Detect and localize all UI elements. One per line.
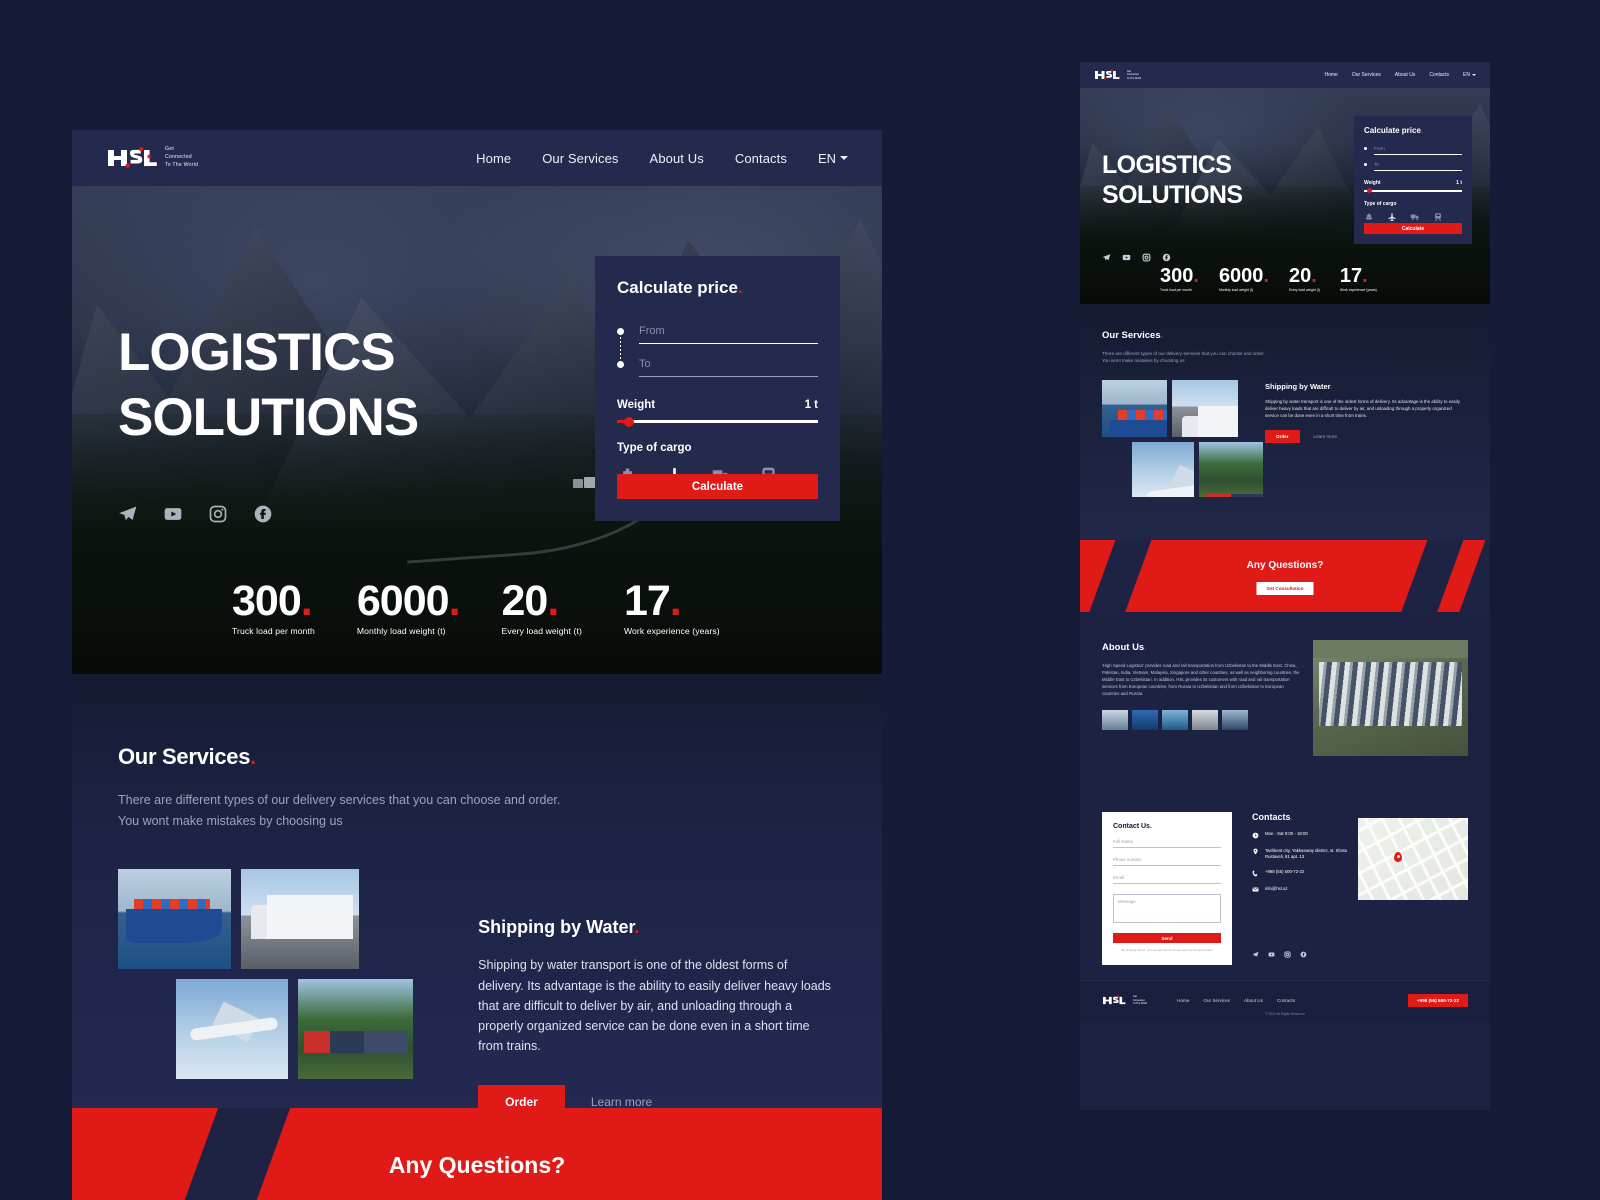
stat-item: 6000. Monthly load weight (t) — [357, 581, 460, 636]
site-header: Get Connected To The World Home Our Serv… — [72, 130, 882, 186]
brand-logo[interactable]: Get Connected To The World — [106, 146, 198, 170]
service-detail-title: Shipping by Water. — [478, 917, 836, 938]
stat-value: 17 — [624, 581, 670, 622]
facebook-icon[interactable] — [1162, 253, 1171, 262]
slider-knob[interactable] — [624, 417, 634, 427]
hsl-truck-photo[interactable] — [1172, 380, 1238, 437]
copyright-text: © 2022 All Rights Reserved — [1080, 1012, 1490, 1016]
stat-value: 6000 — [1219, 267, 1264, 286]
stat-item: 300. Truck load per month — [232, 581, 315, 636]
nav-item-our-services[interactable]: Our Services — [542, 151, 618, 166]
to-underline — [1374, 170, 1462, 171]
cargo-type-options — [1364, 212, 1462, 222]
services-subtitle: There are different types of our deliver… — [1102, 350, 1468, 365]
mini-main-nav: Home Our Services About Us Contacts EN — [1324, 72, 1476, 78]
services-title: Our Services. — [1102, 330, 1468, 341]
hero-social-links — [118, 504, 273, 524]
nav-item-contacts[interactable]: Contacts — [1429, 72, 1449, 78]
route-dot-icon — [1364, 147, 1367, 150]
contact-form-title: Contact Us. — [1113, 823, 1221, 830]
route-dot-icon — [617, 361, 624, 368]
cargo-ship-photo[interactable] — [118, 869, 231, 969]
calculate-button[interactable]: Calculate — [1364, 223, 1462, 234]
contacts-email[interactable]: info@hsl.uz — [1265, 886, 1288, 892]
from-field-row: From — [1364, 146, 1462, 155]
price-calculator-card: Calculate price. From To Weight 1 t — [595, 256, 840, 521]
location-pin-icon — [1252, 848, 1259, 855]
cta-band: Any Questions? — [72, 1108, 882, 1200]
stat-value: 6000 — [357, 581, 449, 622]
services-section: Our Services. There are different types … — [72, 674, 882, 1119]
cargo-ship-photo[interactable] — [1102, 380, 1167, 437]
hsl-logo-icon — [1094, 69, 1120, 81]
mini-hero-section: LOGISTICS SOLUTIONS 300. Truck load per … — [1080, 88, 1490, 304]
language-switcher[interactable]: EN — [818, 151, 848, 166]
main-nav: Home Our Services About Us Contacts EN — [476, 151, 848, 166]
nav-item-about-us[interactable]: About Us — [1395, 72, 1416, 78]
stat-item: 300. Truck load per month — [1160, 267, 1199, 292]
route-dot-icon — [1364, 163, 1367, 166]
email-field[interactable]: Email — [1113, 875, 1221, 884]
port-photo[interactable] — [1162, 710, 1188, 730]
mini-price-calculator-card: Calculate price. From To Weight 1 t Type… — [1354, 116, 1472, 244]
facebook-icon[interactable] — [1300, 951, 1307, 958]
learn-more-link[interactable]: Learn more — [591, 1095, 652, 1109]
stats-row: 300. Truck load per month 6000. Monthly … — [232, 581, 720, 636]
to-input[interactable]: To — [1374, 162, 1462, 170]
nav-item-our-services[interactable]: Our Services — [1352, 72, 1381, 78]
hsl-truck-photo[interactable] — [241, 869, 359, 969]
to-field-row: To — [617, 358, 818, 377]
stat-label: Monthly load weight (t) — [1219, 288, 1269, 292]
language-label: EN — [818, 151, 836, 166]
stat-label: Every load weight (t) — [502, 626, 582, 636]
footer-nav: Home Our Services About Us Contacts — [1177, 998, 1295, 1003]
calculator-title: Calculate price. — [617, 278, 818, 298]
get-consultation-button[interactable]: Get Consultation — [1256, 582, 1313, 595]
map-pin-icon — [1394, 852, 1402, 862]
service-detail-description: Shipping by water transport is one of th… — [1265, 398, 1461, 419]
telegram-icon[interactable] — [1252, 951, 1259, 958]
services-title: Our Services. — [118, 744, 836, 770]
instagram-icon[interactable] — [1284, 951, 1291, 958]
stat-value: 20 — [1289, 267, 1311, 286]
service-detail-title: Shipping by Water. — [1265, 382, 1461, 391]
service-detail-description: Shipping by water transport is one of th… — [478, 955, 836, 1056]
mini-hero-social-links — [1102, 253, 1171, 262]
warehouse-photo[interactable] — [1102, 710, 1128, 730]
weight-slider[interactable] — [1364, 190, 1462, 192]
contacts-block: Contacts. Mon - Sat 9:00 - 18:00 Tashken… — [1252, 812, 1362, 893]
hero-title-line2: SOLUTIONS — [118, 386, 418, 451]
footer-brand-tagline: Get Connected To The World — [1133, 995, 1147, 1005]
to-input[interactable]: To — [639, 358, 818, 376]
terminal-photo[interactable] — [1192, 710, 1218, 730]
footer-nav-contacts[interactable]: Contacts — [1277, 998, 1295, 1003]
telegram-icon[interactable] — [118, 504, 138, 524]
route-fields: From To — [617, 325, 818, 377]
stat-item: 17. Work experience (years) — [624, 581, 720, 636]
brand-tagline: Get Connected To The World — [165, 146, 198, 169]
stat-item: 17. Work experience (years) — [1340, 267, 1377, 292]
contacts-phone-row: +998 (55) 500-72-22 — [1252, 869, 1362, 877]
telegram-icon[interactable] — [1102, 253, 1111, 262]
language-switcher[interactable]: EN — [1463, 72, 1476, 78]
weight-value: 1 t — [805, 399, 818, 411]
hsl-logo-icon — [1102, 995, 1126, 1006]
mini-cta-band: Any Questions? Get Consultation — [1080, 540, 1490, 612]
truck-icon[interactable] — [1410, 212, 1420, 222]
cargo-type-label: Type of cargo — [1364, 201, 1462, 207]
footer-nav-home[interactable]: Home — [1177, 998, 1189, 1003]
message-field[interactable]: Message — [1113, 894, 1221, 923]
facebook-icon[interactable] — [253, 504, 273, 524]
terms-text: By clicking 'Send', you accept Terms of … — [1113, 948, 1221, 952]
footer-phone-button[interactable]: +998 (55) 500-72-22 — [1408, 994, 1468, 1007]
clock-icon — [1252, 832, 1259, 839]
site-footer: Get Connected To The World Home Our Serv… — [1080, 980, 1490, 1020]
services-gallery — [1102, 380, 1232, 485]
full-page-mockup-thumbnail: Get Connected To The World Home Our Serv… — [1080, 62, 1490, 1110]
about-section: About Us. 'High Speed Logistics' provide… — [1080, 612, 1490, 796]
weight-slider[interactable] — [617, 420, 818, 423]
stat-label: Truck load per month — [1160, 288, 1199, 292]
to-underline — [639, 376, 818, 377]
cta-title: Any Questions? — [1080, 560, 1490, 571]
stat-item: 6000. Monthly load weight (t) — [1219, 267, 1269, 292]
mini-page-title: LOGISTICS SOLUTIONS — [1102, 150, 1242, 210]
contacts-phone[interactable]: +998 (55) 500-72-22 — [1265, 869, 1304, 875]
instagram-icon[interactable] — [208, 504, 228, 524]
ship-icon[interactable] — [1364, 212, 1374, 222]
youtube-icon[interactable] — [1122, 253, 1131, 262]
calculate-button[interactable]: Calculate — [617, 474, 818, 499]
stat-value: 300 — [1160, 267, 1193, 286]
contacts-social-links — [1252, 951, 1307, 958]
youtube-icon[interactable] — [163, 504, 183, 524]
hero-title-line1: LOGISTICS — [1102, 150, 1242, 180]
contacts-title: Contacts. — [1252, 812, 1362, 822]
full-name-field[interactable]: Full Name — [1113, 839, 1221, 848]
contacts-hours-row: Mon - Sat 9:00 - 18:00 — [1252, 831, 1362, 839]
contacts-address-row: Tashkent city, Yakkasaray district, st. … — [1252, 848, 1362, 861]
contact-form: Contact Us. Full Name Phone number Email… — [1102, 812, 1232, 965]
from-input[interactable]: From — [639, 325, 818, 343]
learn-more-link[interactable]: Learn more — [1314, 434, 1338, 439]
youtube-icon[interactable] — [1268, 951, 1275, 958]
aerial-logistics-yard-photo — [1313, 640, 1468, 756]
stat-item: 20. Every load weight (t) — [1289, 267, 1320, 292]
contact-section: Contact Us. Full Name Phone number Email… — [1080, 796, 1490, 980]
services-subtitle: There are different types of our deliver… — [118, 790, 836, 831]
cargo-plane-photo[interactable] — [176, 979, 288, 1079]
mini-brand-logo[interactable]: Get Connected To The World — [1094, 69, 1141, 81]
stat-value: 17 — [1340, 267, 1362, 286]
stat-item: 20. Every load weight (t) — [502, 581, 582, 636]
desktop-mockup-main: Get Connected To The World Home Our Serv… — [72, 130, 882, 1200]
weight-label: Weight — [617, 399, 655, 411]
train-icon[interactable] — [1433, 212, 1443, 222]
contacts-address: Tashkent city, Yakkasaray district, st. … — [1265, 848, 1362, 861]
nav-item-home[interactable]: Home — [476, 151, 511, 166]
nav-item-about-us[interactable]: About Us — [650, 151, 704, 166]
hsl-logo-icon — [106, 146, 158, 170]
footer-nav-our-services[interactable]: Our Services — [1203, 998, 1230, 1003]
location-map[interactable] — [1358, 818, 1468, 900]
from-underline — [639, 343, 818, 344]
order-button[interactable]: Order — [1265, 430, 1300, 443]
container-photo[interactable] — [1132, 710, 1158, 730]
footer-nav-about-us[interactable]: About Us — [1244, 998, 1263, 1003]
instagram-icon[interactable] — [1142, 253, 1151, 262]
phone-icon — [1252, 870, 1259, 877]
slider-knob[interactable] — [1367, 188, 1372, 193]
nav-item-home[interactable]: Home — [1324, 72, 1337, 78]
mini-brand-tagline: Get Connected To The World — [1127, 70, 1141, 80]
mini-stats-row: 300. Truck load per month 6000. Monthly … — [1160, 267, 1377, 292]
chevron-down-icon — [840, 156, 848, 160]
weight-row: Weight 1 t — [617, 399, 818, 411]
chevron-down-icon — [1472, 74, 1476, 76]
plane-icon[interactable] — [1387, 212, 1397, 222]
stat-label: Work experience (years) — [1340, 288, 1377, 292]
contacts-hours: Mon - Sat 9:00 - 18:00 — [1265, 831, 1308, 837]
service-detail: Shipping by Water. Shipping by water tra… — [1265, 382, 1461, 443]
service-detail: Shipping by Water. Shipping by water tra… — [478, 869, 836, 1119]
hero-title-line2: SOLUTIONS — [1102, 180, 1242, 210]
cargo-type-label: Type of cargo — [617, 442, 818, 454]
mail-icon — [1252, 886, 1259, 893]
hero-title-line1: LOGISTICS — [118, 321, 418, 386]
about-description: 'High Speed Logistics' provides road and… — [1102, 663, 1302, 698]
nav-item-contacts[interactable]: Contacts — [735, 151, 787, 166]
page-title: LOGISTICS SOLUTIONS — [118, 321, 418, 450]
phone-number-field[interactable]: Phone number — [1113, 857, 1221, 866]
to-field-row: To — [1364, 162, 1462, 171]
contacts-email-row: info@hsl.uz — [1252, 886, 1362, 894]
truck-fleet-photo[interactable] — [1222, 710, 1248, 730]
from-field-row: From — [617, 325, 818, 344]
mini-services-section: Our Services. There are different types … — [1080, 304, 1490, 540]
stat-label: Truck load per month — [232, 626, 315, 636]
stat-value: 300 — [232, 581, 301, 622]
freight-train-photo[interactable] — [298, 979, 413, 1079]
language-label: EN — [1463, 72, 1470, 78]
hero-section: LOGISTICS SOLUTIONS 300. Truck load per … — [72, 186, 882, 674]
cta-title: Any Questions? — [72, 1152, 882, 1179]
route-dot-icon — [617, 328, 624, 335]
stat-label: Work experience (years) — [624, 626, 720, 636]
footer-brand-logo[interactable]: Get Connected To The World — [1102, 995, 1147, 1006]
send-button[interactable]: Send — [1113, 933, 1221, 943]
calculator-title: Calculate price. — [1364, 126, 1462, 135]
stat-value: 20 — [502, 581, 548, 622]
cargo-plane-photo[interactable] — [1132, 442, 1194, 497]
weight-value: 1 t — [1456, 180, 1462, 186]
stat-label: Monthly load weight (t) — [357, 626, 460, 636]
from-input[interactable]: From — [1374, 146, 1462, 154]
freight-train-photo[interactable] — [1199, 442, 1263, 497]
weight-label: Weight — [1364, 180, 1381, 186]
services-gallery — [118, 869, 426, 1119]
from-underline — [1374, 154, 1462, 155]
stat-label: Every load weight (t) — [1289, 288, 1320, 292]
mini-site-header: Get Connected To The World Home Our Serv… — [1080, 62, 1490, 88]
